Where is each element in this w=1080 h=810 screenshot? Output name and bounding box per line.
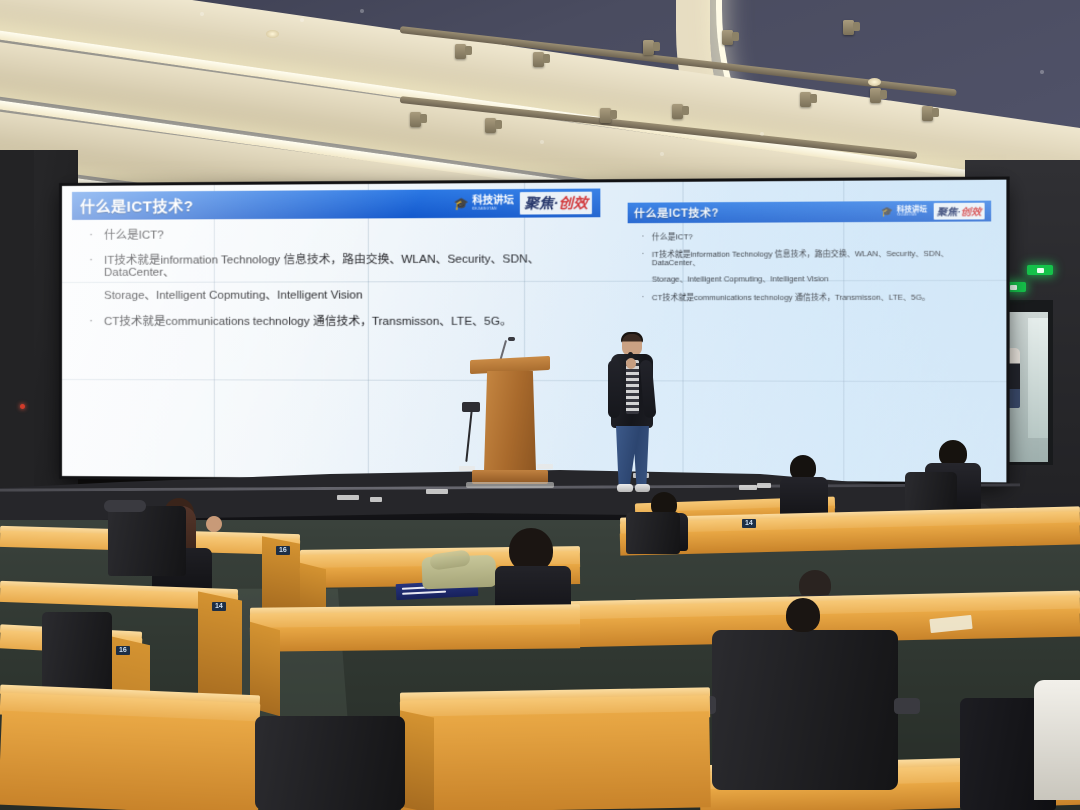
brand-name-pinyin: KEJIANGTAN bbox=[897, 214, 923, 217]
seat-number-label: 16 bbox=[116, 646, 130, 655]
audience-white-sleeve bbox=[1034, 680, 1080, 800]
audience-member bbox=[776, 598, 834, 642]
presenter-shoe bbox=[617, 484, 633, 492]
slide-body: · 什么是ICT? · IT技术就是information Technology… bbox=[72, 217, 600, 345]
chair-headrest bbox=[104, 500, 146, 512]
presenter-jeans bbox=[616, 426, 649, 486]
floor-tape-mark bbox=[757, 483, 771, 488]
seat-number-label: 14 bbox=[212, 602, 226, 611]
ceiling-speaker-dot bbox=[540, 140, 544, 144]
ceiling-speaker-dot bbox=[360, 9, 364, 13]
desk-side-panel bbox=[400, 710, 434, 810]
desk-front bbox=[250, 624, 580, 651]
spotlight-fixture bbox=[722, 30, 733, 45]
bullet-text: 什么是ICT? bbox=[652, 232, 985, 242]
ceiling-downlight bbox=[266, 30, 279, 38]
floor-tape-mark bbox=[426, 489, 448, 494]
campaign-text-dark: 聚焦· bbox=[524, 193, 558, 214]
spotlight-fixture bbox=[672, 104, 683, 119]
floor-tape-mark bbox=[370, 497, 382, 502]
ceiling-downlight bbox=[868, 78, 881, 86]
graduation-cap-icon: 🎓 bbox=[881, 207, 893, 216]
campaign-text-red: 创效 bbox=[558, 193, 587, 214]
bullet-text: CT技术就是communications technology 通信技术，Tra… bbox=[104, 316, 594, 328]
spotlight-fixture bbox=[485, 118, 496, 133]
bullet-marker: · bbox=[634, 251, 652, 259]
audience-member bbox=[778, 455, 830, 515]
slide-duplicate: 什么是ICT技术? 🎓 科技讲坛 KEJIANGTAN 聚焦· 创效 bbox=[628, 201, 991, 316]
slide-header-bar: 什么是ICT技术? 🎓 科技讲坛 KEJIANGTAN 聚焦· 创效 bbox=[72, 189, 600, 220]
ceiling-speaker-dot bbox=[300, 18, 304, 22]
slide-body: · 什么是ICT? · IT技术就是information Technology… bbox=[628, 221, 991, 315]
desk-front bbox=[0, 711, 262, 810]
slide-bullet: · 什么是ICT? bbox=[78, 227, 594, 241]
slide-bullet: · CT技术就是communications technology 通信技术，T… bbox=[634, 293, 985, 302]
bullet-marker: · bbox=[634, 233, 652, 241]
book-title-stripe bbox=[402, 591, 446, 595]
audience-hand bbox=[206, 516, 222, 532]
person-in-doorway bbox=[1006, 348, 1020, 408]
campaign-text-red: 创效 bbox=[961, 204, 982, 219]
audience-chair bbox=[626, 512, 680, 554]
bullet-continuation: Storage、Intelligent Copmuting、Intelligen… bbox=[652, 272, 985, 284]
bullet-marker: · bbox=[78, 255, 104, 267]
podium-floor-plate bbox=[466, 482, 554, 488]
chair-armrest bbox=[894, 698, 920, 714]
slide-bullet: · IT技术就是information Technology 信息技术，路由交换… bbox=[634, 250, 985, 267]
brand-logo-keji: 🎓 科技讲坛 KEJIANGTAN bbox=[881, 206, 927, 217]
red-indicator-light bbox=[20, 404, 25, 409]
spotlight-fixture bbox=[533, 52, 544, 67]
floor-tape-mark bbox=[337, 495, 359, 500]
audience-chair-foreground bbox=[712, 630, 898, 790]
audience-head bbox=[786, 598, 820, 632]
bullet-text: IT技术就是information Technology 信息技术，路由交换、W… bbox=[652, 250, 985, 267]
ceiling-speaker-dot bbox=[660, 152, 664, 156]
audience-chair bbox=[108, 506, 186, 576]
brand-name-pinyin: KEJIANGTAN bbox=[472, 207, 507, 211]
spotlight-fixture bbox=[922, 106, 933, 121]
spotlight-fixture bbox=[843, 20, 854, 35]
lecture-hall-screenshot: 什么是ICT技术? 🎓 科技讲坛 KEJIANGTAN 聚焦· 创效 bbox=[0, 0, 1080, 810]
podium-microphone-icon bbox=[508, 337, 515, 341]
slide-title: 什么是ICT技术? bbox=[634, 205, 719, 221]
bullet-marker: · bbox=[634, 294, 652, 302]
bullet-continuation: Storage、Intelligent Copmuting、Intelligen… bbox=[104, 286, 594, 303]
audience-chair-foreground bbox=[255, 716, 405, 810]
slide-header-logos: 🎓 科技讲坛 KEJIANGTAN 聚焦· 创效 bbox=[881, 203, 984, 220]
audience-torso bbox=[780, 477, 828, 517]
slide-title: 什么是ICT技术? bbox=[80, 195, 193, 217]
podium-body bbox=[484, 371, 536, 471]
spotlight-fixture bbox=[410, 112, 421, 127]
spotlight-fixture bbox=[600, 108, 611, 123]
ceiling-speaker-dot bbox=[760, 132, 764, 136]
seat-number-label: 16 bbox=[276, 546, 290, 555]
presenter bbox=[606, 334, 658, 498]
spotlight-fixture bbox=[455, 44, 466, 59]
spotlight-fixture bbox=[643, 40, 654, 55]
floor-tape-mark bbox=[739, 485, 757, 490]
audience-member bbox=[960, 680, 1080, 810]
spotlight-fixture bbox=[870, 88, 881, 103]
exit-sign bbox=[1027, 265, 1053, 275]
campaign-logo: 聚焦· 创效 bbox=[934, 203, 985, 220]
campaign-logo: 聚焦· 创效 bbox=[520, 192, 592, 215]
graduation-cap-icon: 🎓 bbox=[454, 198, 469, 210]
bullet-text: 什么是ICT? bbox=[104, 227, 594, 241]
slide-bullet: · 什么是ICT? bbox=[634, 232, 985, 242]
slide-primary: 什么是ICT技术? 🎓 科技讲坛 KEJIANGTAN 聚焦· 创效 bbox=[72, 189, 600, 346]
ceiling-speaker-dot bbox=[1040, 70, 1044, 74]
campaign-text-dark: 聚焦· bbox=[937, 204, 961, 219]
ceiling bbox=[0, 0, 1080, 200]
podium bbox=[478, 358, 542, 490]
door-glass-panel bbox=[1028, 318, 1048, 438]
bullet-text: IT技术就是information Technology 信息技术，路由交换、W… bbox=[104, 253, 594, 279]
slide-header-bar: 什么是ICT技术? 🎓 科技讲坛 KEJIANGTAN 聚焦· 创效 bbox=[628, 201, 991, 224]
seat-number-label: 14 bbox=[742, 519, 756, 528]
presenter-hand bbox=[626, 358, 636, 369]
bullet-marker: · bbox=[78, 230, 104, 242]
desk-front bbox=[399, 711, 711, 810]
presenter-left-arm bbox=[608, 360, 620, 418]
presenter-shoe bbox=[635, 484, 650, 492]
brand-logo-keji: 🎓 科技讲坛 KEJIANGTAN bbox=[454, 196, 514, 211]
slide-header-logos: 🎓 科技讲坛 KEJIANGTAN 聚焦· 创效 bbox=[454, 192, 592, 215]
spotlight-fixture bbox=[800, 92, 811, 107]
bullet-text: CT技术就是communications technology 通信技术，Tra… bbox=[652, 293, 985, 302]
slide-bullet: · CT技术就是communications technology 通信技术，T… bbox=[78, 316, 594, 328]
slide-bullet: · IT技术就是information Technology 信息技术，路由交换… bbox=[78, 253, 594, 279]
bullet-marker: · bbox=[78, 316, 104, 328]
ceiling-speaker-dot bbox=[200, 12, 204, 16]
